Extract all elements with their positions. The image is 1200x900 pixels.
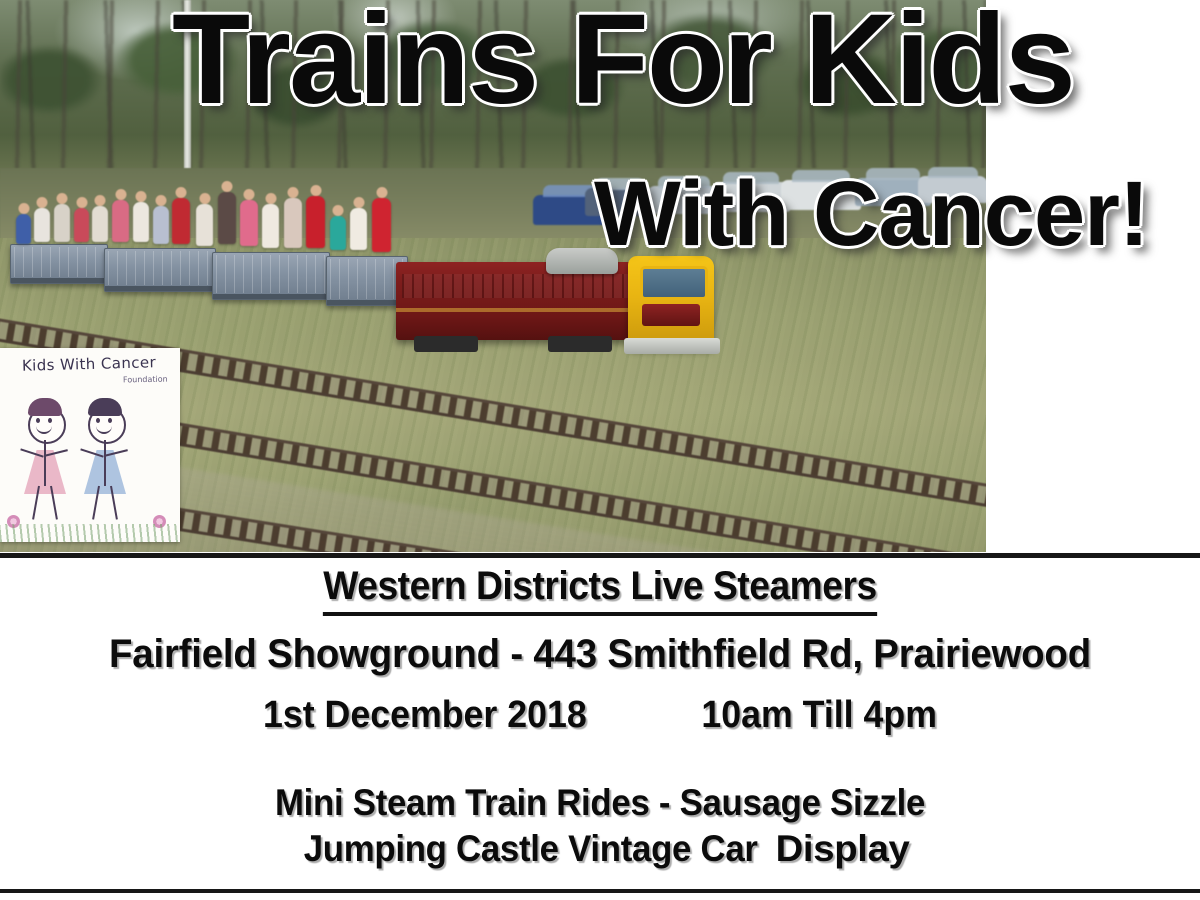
train-passenger — [16, 214, 31, 244]
venue-address: Fairfield Showground - 443 Smithfield Rd… — [24, 632, 1176, 677]
train-carriage — [104, 248, 216, 292]
train-passenger — [92, 206, 108, 242]
event-time: 10am Till 4pm — [701, 694, 937, 736]
divider-bottom — [0, 889, 1200, 893]
logo-subtitle: Foundation — [123, 375, 168, 385]
train-passenger — [262, 204, 279, 248]
train-passenger — [372, 198, 391, 252]
train-passenger — [218, 192, 236, 244]
train-passenger — [153, 206, 169, 244]
organisation-name: Western Districts Live Steamers — [42, 564, 1158, 609]
train-passenger — [306, 196, 325, 248]
activities-line-2: Jumping Castle Vintage Car Display — [36, 828, 1164, 870]
activities-line-2-part-1: Jumping Castle Vintage Car — [304, 828, 767, 869]
locomotive-cab-window — [640, 266, 708, 300]
train-passenger — [196, 204, 213, 246]
organisation-name-text: Western Districts Live Steamers — [323, 564, 876, 616]
event-poster: Kids With Cancer Foundation — [0, 0, 1200, 900]
train-carriage — [10, 244, 108, 284]
train-passenger — [172, 198, 190, 244]
logo-girl-figure — [22, 406, 76, 526]
headline-line-1: Trains For Kids — [172, 0, 1074, 124]
train-passenger — [350, 208, 367, 250]
logo-title: Kids With Cancer — [0, 353, 180, 376]
locomotive-bogie — [414, 336, 478, 352]
train-carriage — [212, 252, 330, 300]
train-passenger — [330, 216, 346, 250]
train-passenger — [112, 200, 129, 242]
train-passenger — [133, 202, 149, 242]
event-details-panel: Western Districts Live Steamers Fairfiel… — [0, 558, 1200, 889]
train-passenger — [34, 208, 50, 242]
train-passenger — [54, 204, 70, 242]
train-passenger — [240, 200, 258, 246]
train-passenger — [74, 208, 89, 242]
logo-boy-figure — [82, 406, 136, 526]
headline-line-2: With Cancer! — [594, 168, 1149, 260]
date-and-time: 1st December 201810am Till 4pm — [36, 694, 1164, 737]
activities-line-1: Mini Steam Train Rides - Sausage Sizzle — [36, 782, 1164, 824]
locomotive-front-panel — [642, 304, 700, 326]
activities-line-2-part-2: Display — [767, 828, 909, 870]
locomotive-skirt — [624, 338, 720, 354]
logo-grass — [0, 524, 180, 542]
locomotive-bogie — [548, 336, 612, 352]
train-passenger — [284, 198, 302, 248]
locomotive — [396, 252, 726, 362]
event-date: 1st December 2018 — [263, 694, 587, 736]
kids-with-cancer-logo: Kids With Cancer Foundation — [0, 348, 180, 542]
